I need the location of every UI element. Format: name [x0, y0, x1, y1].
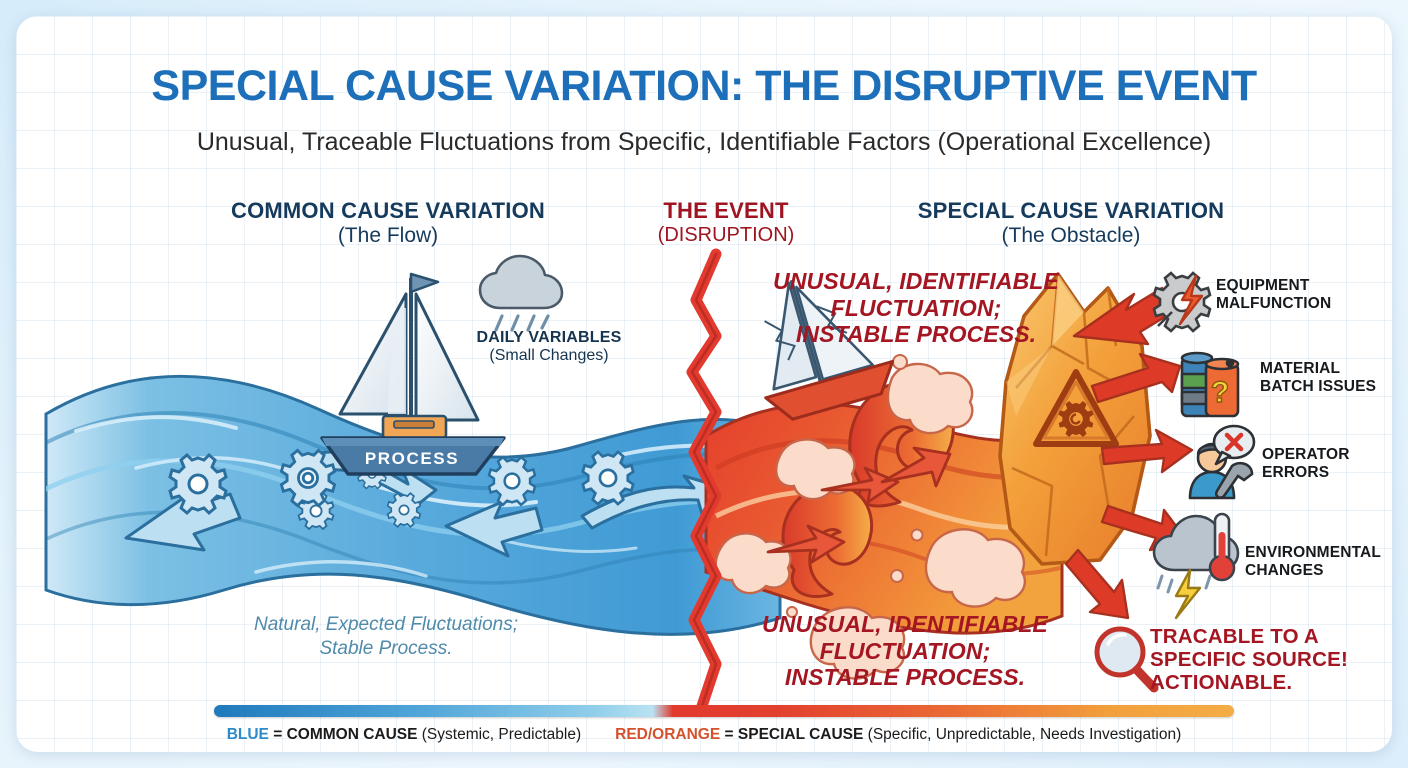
warning-text-bottom: UNUSUAL, IDENTIFIABLE FLUCTUATION; INSTA…: [749, 611, 1061, 691]
section-subtitle: (DISRUPTION): [626, 224, 826, 246]
daily-variables-title: DAILY VARIABLES: [459, 329, 639, 347]
legend-red-eq: =: [720, 726, 738, 743]
section-title: COMMON CAUSE VARIATION: [153, 199, 623, 224]
section-header-special-cause: SPECIAL CAUSE VARIATION (The Obstacle): [846, 199, 1296, 247]
section-subtitle: (The Obstacle): [846, 224, 1296, 248]
legend-red-tail: (Specific, Unpredictable, Needs Investig…: [863, 726, 1181, 743]
section-header-common-cause: COMMON CAUSE VARIATION (The Flow): [153, 199, 623, 247]
warning-line-1: UNUSUAL, IDENTIFIABLE: [773, 268, 1059, 294]
legend-blue-keyword: BLUE: [227, 726, 269, 743]
daily-variables-label: DAILY VARIABLES (Small Changes): [459, 329, 639, 366]
callout-line-2: ERRORS: [1262, 464, 1329, 481]
section-header-the-event: THE EVENT (DISRUPTION): [626, 199, 826, 246]
callout-line-2: BATCH ISSUES: [1260, 378, 1376, 395]
warning-line-1: UNUSUAL, IDENTIFIABLE: [762, 611, 1048, 637]
svg-text:?: ?: [1211, 376, 1229, 409]
section-title: THE EVENT: [626, 199, 826, 224]
legend-text: BLUE = COMMON CAUSE (Systemic, Predictab…: [16, 726, 1392, 744]
callout-label-traceable-actionable: TRACABLE TO A SPECIFIC SOURCE! ACTIONABL…: [1150, 625, 1392, 694]
callout-label-environmental-changes: ENVIRONMENTAL CHANGES: [1245, 544, 1392, 579]
magnifier-icon: [1097, 629, 1154, 688]
legend-gradient-bar: [214, 705, 1234, 717]
natural-fluctuations-note: Natural, Expected Fluctuations; Stable P…: [191, 613, 581, 661]
warning-line-2: FLUCTUATION;: [831, 295, 1002, 321]
warning-text-top: UNUSUAL, IDENTIFIABLE FLUCTUATION; INSTA…: [761, 268, 1071, 348]
warning-line-3: INSTABLE PROCESS.: [785, 664, 1025, 690]
callout-label-material-batch-issues: MATERIAL BATCH ISSUES: [1260, 360, 1392, 395]
note-line-2: Stable Process.: [319, 638, 452, 659]
note-line-1: Natural, Expected Fluctuations;: [254, 614, 518, 635]
legend-red-keyword: RED/ORANGE: [615, 726, 720, 743]
error-bubble: [1214, 426, 1254, 464]
daily-variables-sub: (Small Changes): [459, 347, 639, 365]
operator-error-icon: [1190, 426, 1254, 498]
callout-line-2: SPECIFIC SOURCE!: [1150, 648, 1348, 671]
legend-red-bold: SPECIAL CAUSE: [738, 726, 863, 743]
boat-label: PROCESS: [365, 449, 459, 468]
warning-line-3: INSTABLE PROCESS.: [796, 321, 1036, 347]
callout-line-1: OPERATOR: [1262, 446, 1350, 463]
page-title: SPECIAL CAUSE VARIATION: THE DISRUPTIVE …: [16, 62, 1392, 111]
infographic-card: PROCESS: [16, 16, 1392, 752]
callout-line-1: TRACABLE TO A: [1150, 625, 1319, 648]
callout-line-1: MATERIAL: [1260, 360, 1340, 377]
legend-blue-bold: COMMON CAUSE: [287, 726, 418, 743]
section-subtitle: (The Flow): [153, 224, 623, 248]
callout-line-1: ENVIRONMENTAL: [1245, 544, 1381, 561]
callout-line-1: EQUIPMENT: [1216, 277, 1310, 294]
callout-label-operator-errors: OPERATOR ERRORS: [1262, 446, 1392, 481]
page-subtitle: Unusual, Traceable Fluctuations from Spe…: [16, 128, 1392, 157]
process-sailboat: PROCESS: [322, 274, 504, 474]
legend-blue-tail: (Systemic, Predictable): [417, 726, 581, 743]
callout-line-2: CHANGES: [1245, 562, 1324, 579]
section-title: SPECIAL CAUSE VARIATION: [846, 199, 1296, 224]
callout-line-3: ACTIONABLE.: [1150, 671, 1292, 694]
rain-cloud-icon: [480, 256, 562, 330]
callout-line-2: MALFUNCTION: [1216, 295, 1331, 312]
gear-lightning-icon: [1154, 273, 1210, 331]
warning-line-2: FLUCTUATION;: [820, 638, 991, 664]
callout-label-equipment-malfunction: EQUIPMENT MALFUNCTION: [1216, 277, 1392, 312]
barrels-question-icon: ?: [1182, 353, 1238, 416]
legend-blue-eq: =: [269, 726, 287, 743]
